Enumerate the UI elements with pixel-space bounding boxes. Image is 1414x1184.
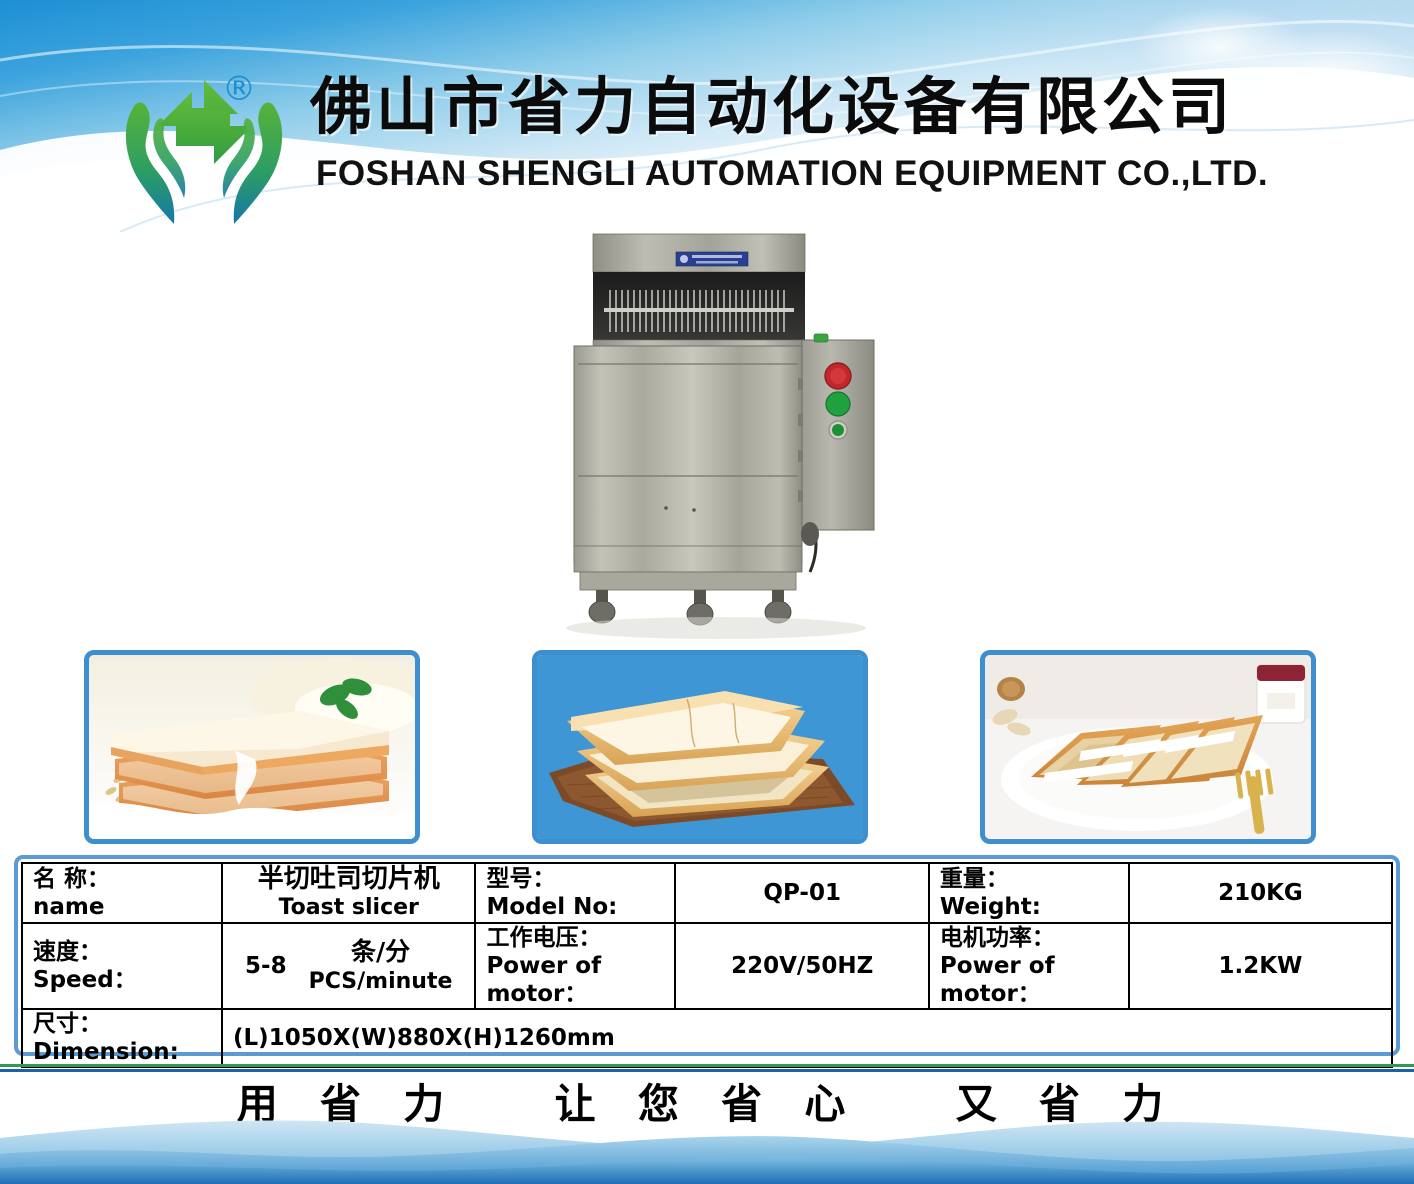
label-weight-en: Weight: (940, 893, 1118, 921)
label-model-en: Model No: (486, 893, 664, 921)
table-row: 名 称： name 半切吐司切片机 Toast slicer 型号： Model… (22, 863, 1392, 923)
label-speed-cn: 速度： (33, 938, 211, 966)
table-row: 尺寸： Dimension: (L)1050X(W)880X(H)1260mm (22, 1009, 1392, 1067)
photo-toast-stack-milk (84, 650, 420, 844)
footer-wave-decoration (0, 1108, 1414, 1184)
value-name-cn: 半切吐司切片机 (233, 864, 464, 895)
value-speed-unit-en: PCS/minute (309, 968, 453, 996)
product-machine-image (566, 228, 946, 648)
label-speed-en: Speed： (33, 966, 211, 994)
label-name-cn: 名 称： (33, 865, 211, 893)
value-speed-number: 5-8 (245, 953, 287, 979)
company-name-chinese: 佛山市省力自动化设备有限公司 (310, 76, 1234, 138)
cell-value-model: QP-01 (675, 863, 928, 923)
label-voltage-en: Power of motor： (486, 952, 664, 1008)
footer-divider (0, 1064, 1414, 1072)
registered-trademark-icon: ® (222, 72, 256, 106)
value-name-en: Toast slicer (233, 895, 464, 921)
cell-value-weight: 210KG (1129, 863, 1392, 923)
cell-value-product-name: 半切吐司切片机 Toast slicer (222, 863, 475, 923)
label-voltage-cn: 工作电压： (486, 924, 664, 952)
table-row: 速度： Speed： 5-8 条/分 PCS/minute 工作电压： Powe… (22, 923, 1392, 1009)
label-weight-cn: 重量： (940, 865, 1118, 893)
company-name-english: FOSHAN SHENGLI AUTOMATION EQUIPMENT CO.,… (316, 156, 1268, 191)
company-logo (118, 66, 290, 231)
cell-label-speed: 速度： Speed： (22, 923, 222, 1009)
label-dimension-en: Dimension: (33, 1038, 211, 1066)
cell-label-name: 名 称： name (22, 863, 222, 923)
page-header: ® 佛山市省力自动化设备有限公司 FOSHAN SHENGLI AUTOMATI… (0, 0, 1414, 232)
cell-label-voltage: 工作电压： Power of motor： (475, 923, 675, 1009)
cell-value-speed: 5-8 条/分 PCS/minute (222, 923, 475, 1009)
label-motor-power-en: Power of motor： (940, 952, 1118, 1008)
photo-toast-plate-fork (980, 650, 1316, 844)
cell-value-dimension: (L)1050X(W)880X(H)1260mm (222, 1009, 1392, 1067)
cell-label-weight: 重量： Weight: (929, 863, 1129, 923)
cell-label-dimension: 尺寸： Dimension: (22, 1009, 222, 1067)
label-model-cn: 型号： (486, 865, 664, 893)
label-motor-power-cn: 电机功率： (940, 924, 1118, 952)
cell-label-model: 型号： Model No: (475, 863, 675, 923)
cell-value-voltage: 220V/50HZ (675, 923, 928, 1009)
divider-blue-line (0, 1069, 1414, 1072)
cell-label-motor-power: 电机功率： Power of motor： (929, 923, 1129, 1009)
divider-green-line (0, 1064, 1414, 1067)
value-speed-unit-cn: 条/分 (309, 936, 453, 967)
photo-toast-wooden-board (532, 650, 868, 844)
specification-table-frame: 名 称： name 半切吐司切片机 Toast slicer 型号： Model… (14, 855, 1400, 1056)
label-name-en: name (33, 893, 211, 921)
specification-table: 名 称： name 半切吐司切片机 Toast slicer 型号： Model… (21, 862, 1393, 1068)
cell-value-motor-power: 1.2KW (1129, 923, 1392, 1009)
label-dimension-cn: 尺寸： (33, 1010, 211, 1038)
